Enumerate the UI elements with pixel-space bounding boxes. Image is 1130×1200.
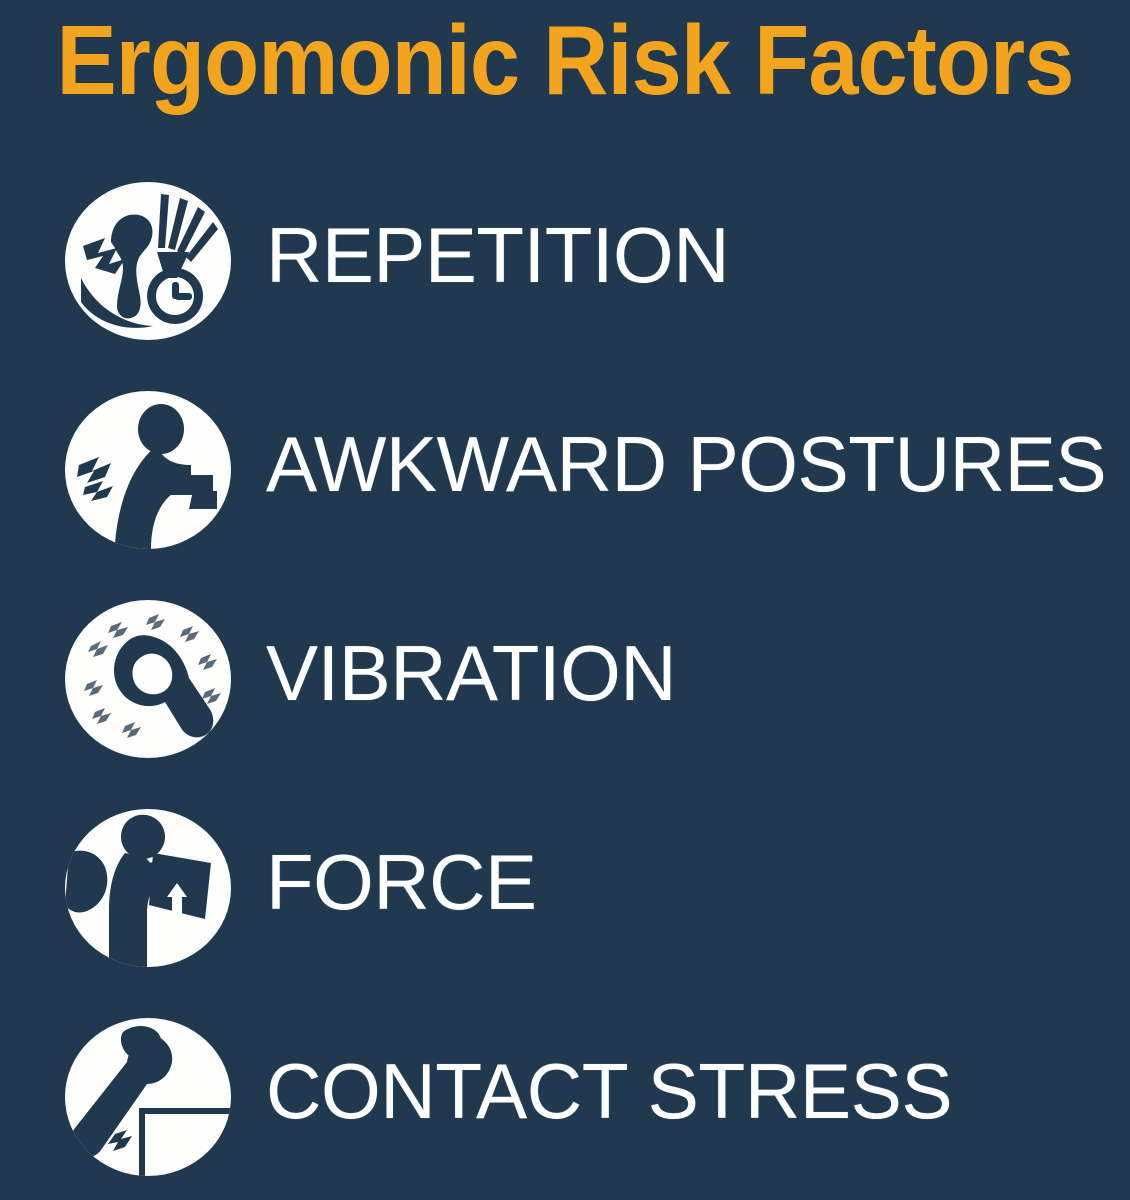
awkward-postures-icon-wrap bbox=[62, 379, 232, 549]
ergonomic-risk-factors-poster: Ergomonic Risk Factors bbox=[0, 0, 1130, 1200]
vibration-hand-tool-icon bbox=[65, 600, 231, 758]
risk-factor-label: CONTACT STRESS bbox=[266, 1051, 952, 1131]
risk-factor-label: VIBRATION bbox=[266, 633, 676, 713]
repetition-icon-wrap bbox=[62, 170, 232, 340]
list-item: VIBRATION bbox=[0, 568, 1130, 777]
risk-factor-label: FORCE bbox=[266, 842, 537, 922]
contact-stress-icon-wrap bbox=[62, 1006, 232, 1176]
list-item: REPETITION bbox=[0, 150, 1130, 359]
awkward-posture-bent-person-icon bbox=[65, 391, 231, 549]
list-item: AWKWARD POSTURES bbox=[0, 359, 1130, 568]
repetition-hand-clock-icon bbox=[65, 182, 231, 340]
list-item: CONTACT STRESS bbox=[0, 986, 1130, 1195]
force-icon-wrap bbox=[62, 797, 232, 967]
risk-factor-list: REPETITION bbox=[0, 150, 1130, 1195]
list-item: FORCE bbox=[0, 777, 1130, 986]
risk-factor-label: REPETITION bbox=[266, 215, 729, 295]
vibration-icon-wrap bbox=[62, 588, 232, 758]
risk-factor-label: AWKWARD POSTURES bbox=[266, 424, 1106, 504]
page-title: Ergomonic Risk Factors bbox=[45, 8, 1085, 112]
contact-stress-elbow-table-icon bbox=[65, 1018, 231, 1176]
force-lifting-box-icon bbox=[65, 809, 231, 967]
